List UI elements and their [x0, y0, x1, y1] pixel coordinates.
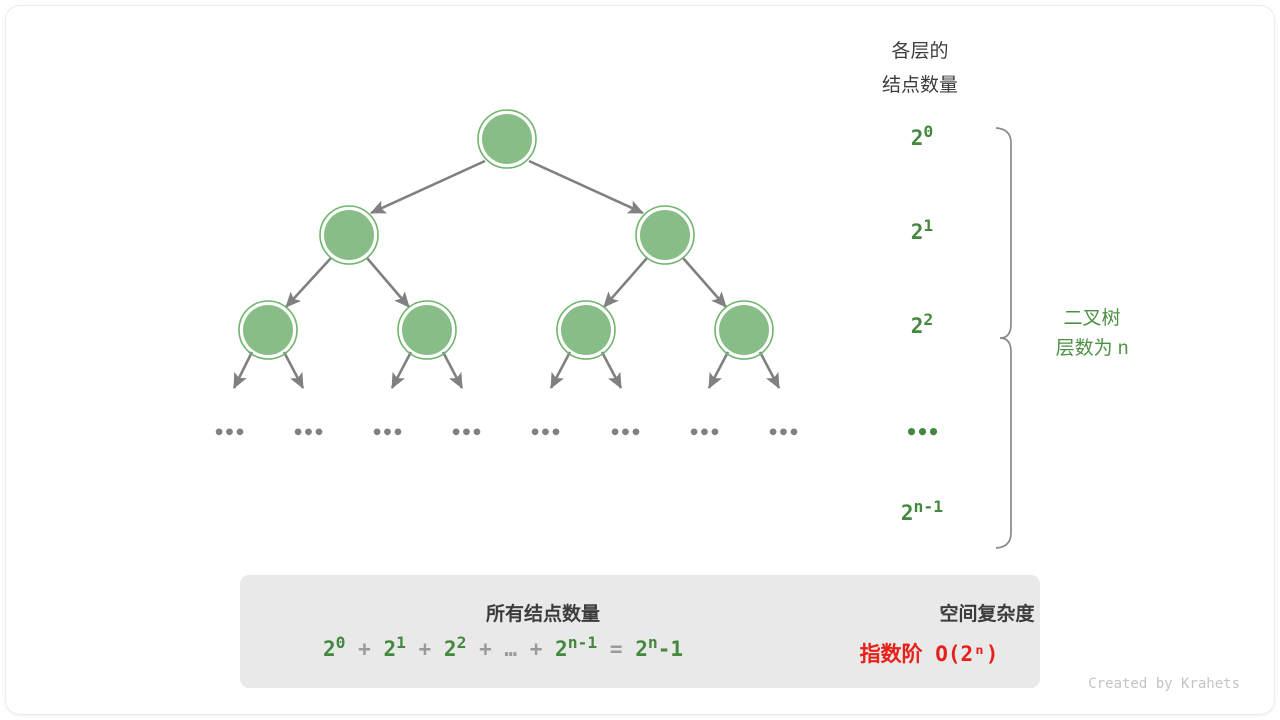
summary-complexity-value: 指数阶 O(2ⁿ) [779, 638, 1079, 668]
level-count-1: 21 [862, 220, 982, 244]
level-count-2: 22 [862, 314, 982, 338]
leaf-ellipsis: ••• [684, 422, 724, 444]
column-header-line1: 各层的 [840, 36, 1000, 63]
leaf-ellipsis: ••• [288, 422, 328, 444]
tree-edges [234, 161, 779, 388]
summary-formula: 20 + 21 + 22 + … + 2n-1 = 2n-1 [243, 637, 763, 661]
level-count-0: 20 [862, 126, 982, 150]
level-count-ellipsis: ••• [862, 420, 982, 444]
tree-nodes [239, 110, 773, 359]
level-count-last: 2n-1 [862, 501, 982, 525]
leaf-ellipsis: ••• [446, 422, 486, 444]
leaf-ellipsis: ••• [763, 422, 803, 444]
leaf-ellipsis: ••• [209, 422, 249, 444]
diagram-canvas: 各层的 结点数量 20 21 22 ••• 2n-1 二叉树 层数为 n •••… [0, 0, 1280, 720]
column-header-line2: 结点数量 [840, 70, 1000, 97]
brace-caption-line2: 层数为 n [992, 333, 1192, 360]
summary-count-title: 所有结点数量 [333, 599, 753, 626]
summary-complexity-title: 空间复杂度 [777, 599, 1197, 626]
summary-box [240, 575, 1040, 688]
leaf-ellipsis: ••• [525, 422, 565, 444]
credit-text: Created by Krahets [1000, 676, 1240, 692]
leaf-ellipsis: ••• [605, 422, 645, 444]
leaf-ellipsis: ••• [367, 422, 407, 444]
brace-caption-line1: 二叉树 [992, 303, 1192, 330]
